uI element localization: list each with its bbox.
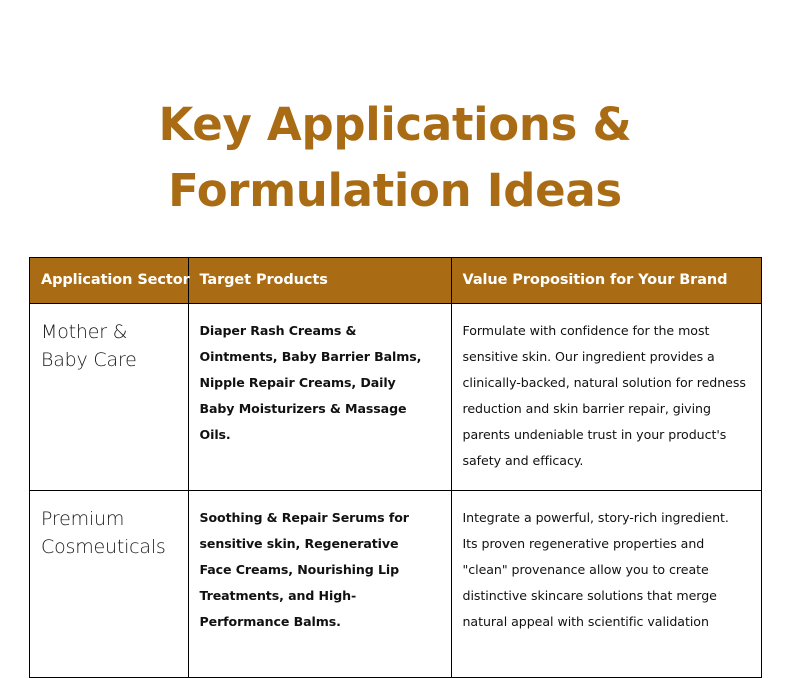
cell-sector-mother-baby-care: Mother & Baby Care xyxy=(30,303,188,490)
cell-value-mother-baby-care: Formulate with confidence for the most s… xyxy=(451,303,761,490)
table-row: Mother & Baby Care Diaper Rash Creams & … xyxy=(30,303,761,490)
column-header-application-sector: Application Sector xyxy=(30,258,188,303)
table-body: Mother & Baby Care Diaper Rash Creams & … xyxy=(30,303,761,677)
table-header: Application Sector Target Products Value… xyxy=(30,258,761,303)
column-header-value-proposition: Value Proposition for Your Brand xyxy=(451,258,761,303)
page-title: Key Applications & Formulation Ideas xyxy=(0,92,790,224)
applications-table-container: Application Sector Target Products Value… xyxy=(29,257,762,678)
cell-products-premium-cosmeuticals: Soothing & Repair Serums for sensitive s… xyxy=(188,490,451,677)
cell-value-premium-cosmeuticals: Integrate a powerful, story-rich ingredi… xyxy=(451,490,761,677)
applications-table: Application Sector Target Products Value… xyxy=(30,258,761,677)
page-title-line-2: Formulation Ideas xyxy=(0,158,790,224)
cell-products-mother-baby-care: Diaper Rash Creams & Ointments, Baby Bar… xyxy=(188,303,451,490)
cell-sector-premium-cosmeuticals: Premium Cosmeuticals xyxy=(30,490,188,677)
table-row: Premium Cosmeuticals Soothing & Repair S… xyxy=(30,490,761,677)
page-title-line-1: Key Applications & xyxy=(0,92,790,158)
column-header-target-products: Target Products xyxy=(188,258,451,303)
table-header-row: Application Sector Target Products Value… xyxy=(30,258,761,303)
